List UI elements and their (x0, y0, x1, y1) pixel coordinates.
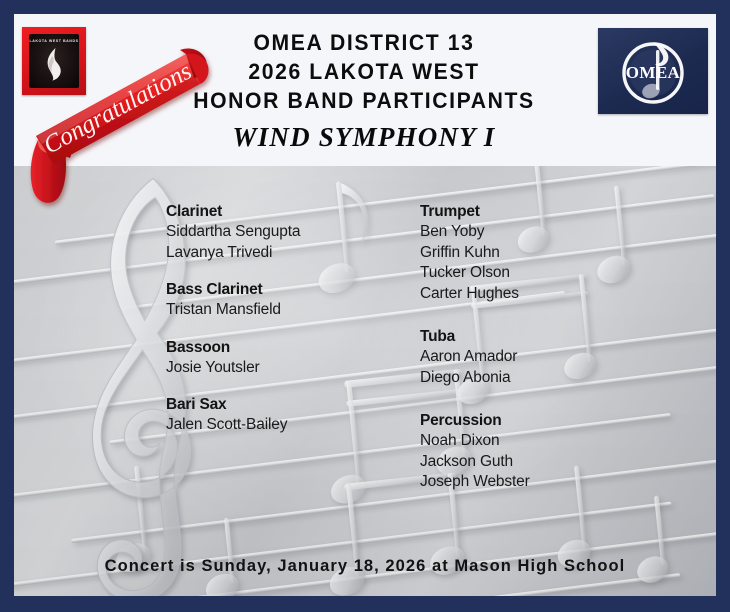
member-name: Ben Yoby (420, 222, 530, 243)
member-name: Jackson Guth (420, 452, 530, 473)
member-name: Griffin Kuhn (420, 243, 530, 264)
member-name: Tucker Olson (420, 263, 530, 284)
congratulations-ribbon: Congratulations (14, 32, 224, 212)
member-name: Jalen Scott-Bailey (166, 415, 300, 436)
member-name: Lavanya Trivedi (166, 243, 300, 264)
title-block: OMEA DISTRICT 13 2026 LAKOTA WEST HONOR … (164, 28, 564, 153)
poster-card: Clarinet Siddartha Sengupta Lavanya Triv… (14, 14, 716, 596)
roster-group: Bari Sax Jalen Scott-Bailey (166, 395, 300, 436)
section-heading: Percussion (420, 411, 530, 431)
section-heading: Bass Clarinet (166, 280, 300, 300)
section-heading: Bari Sax (166, 395, 300, 415)
roster-group: Bassoon Josie Youtsler (166, 338, 300, 379)
member-name: Siddartha Sengupta (166, 222, 300, 243)
poster-frame: Clarinet Siddartha Sengupta Lavanya Triv… (0, 0, 730, 612)
roster-group: Bass Clarinet Tristan Mansfield (166, 280, 300, 321)
roster-group: Tuba Aaron Amador Diego Abonia (420, 327, 530, 388)
member-name: Josie Youtsler (166, 358, 300, 379)
roster-columns: Clarinet Siddartha Sengupta Lavanya Triv… (14, 166, 716, 596)
concert-info-text: Concert is Sunday, January 18, 2026 at M… (105, 557, 626, 575)
member-name: Noah Dixon (420, 431, 530, 452)
ribbon-label: Congratulations (39, 58, 196, 160)
section-heading: Tuba (420, 327, 530, 347)
roster-group: Trumpet Ben Yoby Griffin Kuhn Tucker Ols… (420, 202, 530, 304)
page-title-line-3: HONOR BAND PARTICIPANTS (176, 86, 552, 115)
omea-logo: OMEA (598, 28, 708, 114)
concert-info: Concert is Sunday, January 18, 2026 at M… (14, 557, 716, 576)
member-name: Carter Hughes (420, 284, 530, 305)
member-name: Diego Abonia (420, 368, 530, 389)
omea-emblem-icon: OMEA (610, 33, 696, 109)
section-heading: Trumpet (420, 202, 530, 222)
music-background-area: Clarinet Siddartha Sengupta Lavanya Triv… (14, 166, 716, 596)
member-name: Aaron Amador (420, 347, 530, 368)
roster-group: Percussion Noah Dixon Jackson Guth Josep… (420, 411, 530, 493)
section-heading: Bassoon (166, 338, 300, 358)
ensemble-title: WIND SYMPHONY I (164, 122, 564, 153)
roster-right-column: Trumpet Ben Yoby Griffin Kuhn Tucker Ols… (420, 166, 530, 516)
page-title-line-1: OMEA DISTRICT 13 (176, 28, 552, 57)
svg-text:OMEA: OMEA (626, 63, 681, 82)
member-name: Joseph Webster (420, 472, 530, 493)
page-title-line-2: 2026 LAKOTA WEST (176, 57, 552, 86)
member-name: Tristan Mansfield (166, 300, 300, 321)
